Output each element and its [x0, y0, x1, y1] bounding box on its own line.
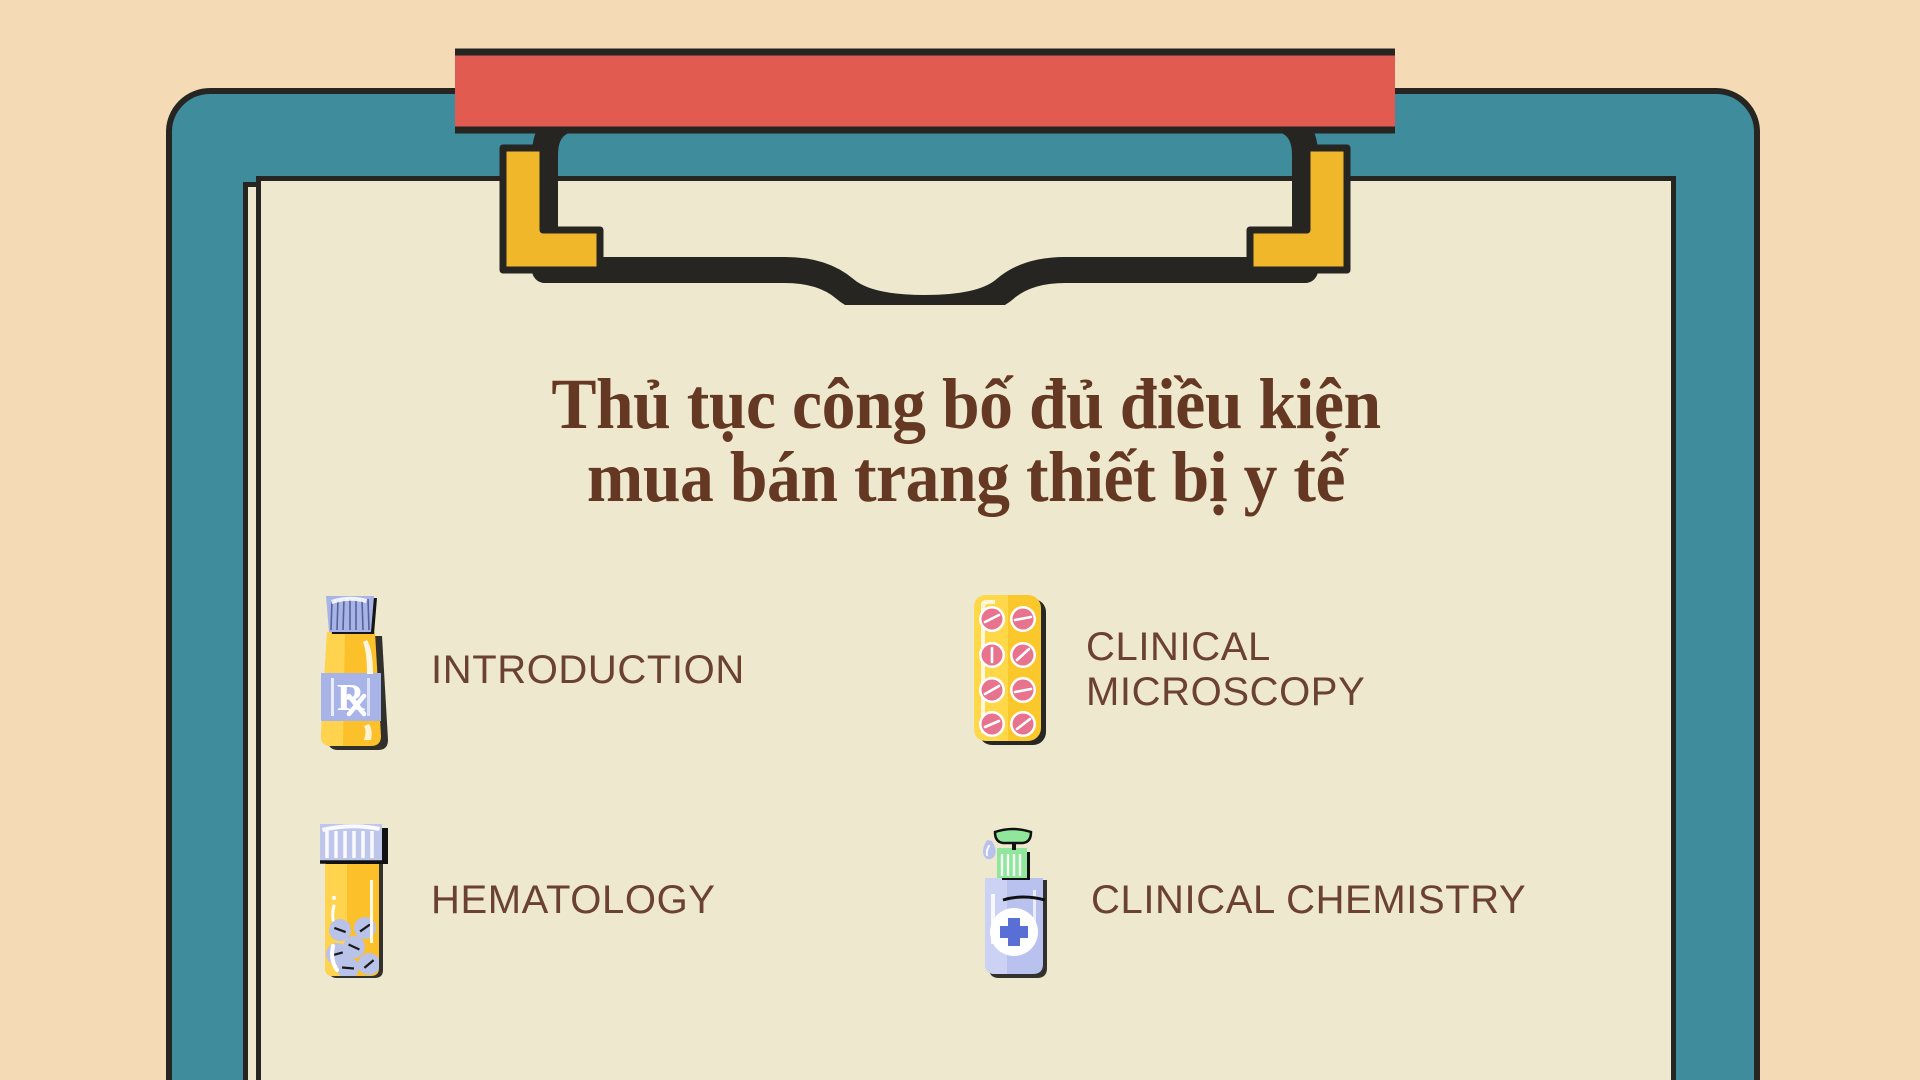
poster-canvas: Thủ tục công bố đủ điều kiện mua bán tra… — [0, 0, 1920, 1080]
pill-blister-pack-icon — [960, 583, 1060, 758]
menu-item-label: INTRODUCTION — [431, 648, 745, 693]
pill-bottle-icon — [300, 813, 405, 988]
menu-item-clinical-chemistry[interactable]: CLINICAL CHEMISTRY — [940, 800, 1640, 1000]
rx-medicine-bottle-icon: R — [300, 583, 405, 758]
hand-sanitizer-bottle-icon — [960, 813, 1065, 988]
menu-item-label: CLINICAL CHEMISTRY — [1091, 878, 1526, 923]
contents-menu: R INTRODUCTION — [300, 555, 1680, 1015]
menu-item-introduction[interactable]: R INTRODUCTION — [300, 570, 940, 770]
menu-item-label: CLINICAL MICROSCOPY — [1086, 625, 1365, 715]
red-clip-bar — [455, 52, 1395, 130]
clip-assembly-icon — [455, 40, 1395, 305]
menu-item-hematology[interactable]: HEMATOLOGY — [300, 800, 940, 1000]
menu-item-clinical-microscopy[interactable]: CLINICAL MICROSCOPY — [940, 570, 1640, 770]
menu-item-label: HEMATOLOGY — [431, 878, 716, 923]
clipboard-clip[interactable] — [455, 40, 1395, 305]
